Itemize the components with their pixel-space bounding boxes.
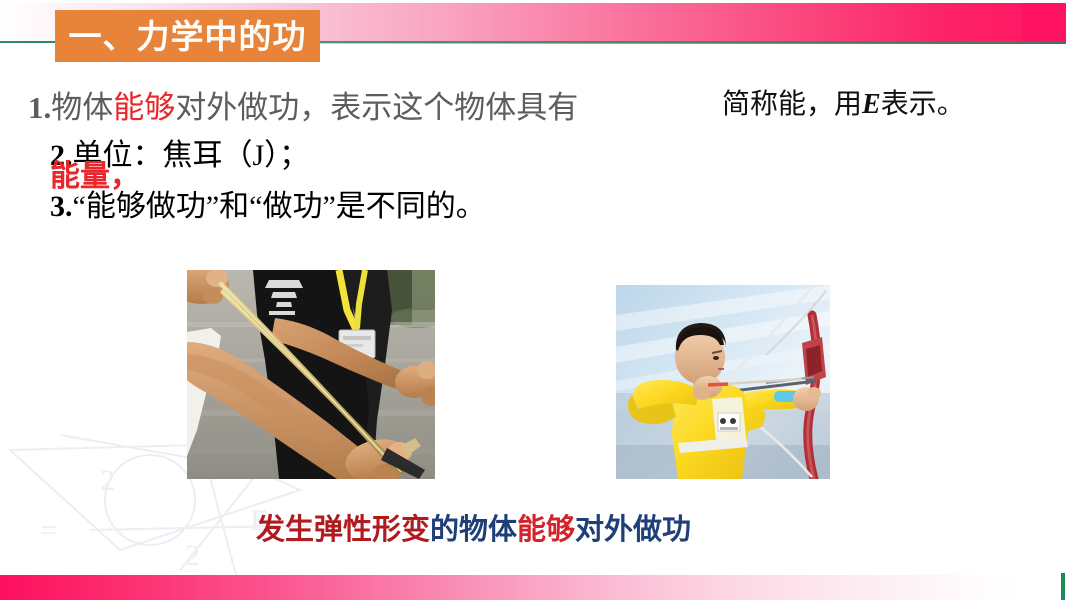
top-right-pink-cap: [1022, 3, 1066, 42]
note-right-symbol: E: [862, 89, 881, 120]
svg-text:2: 2: [185, 539, 200, 572]
note-right: 简称能，用E表示。: [722, 82, 965, 122]
page-title: 一、力学中的功: [69, 20, 307, 53]
svg-text:=: =: [40, 514, 57, 547]
photo-archer: [616, 285, 830, 479]
slide-canvas: 2 2 E = 一、力学中的功 1.物体能够对外做功，表示这个物体具有 2.单位…: [0, 0, 1066, 600]
body-line-1-part-b: 对外做功，表示这个物体具有: [175, 90, 578, 125]
figure-caption: 发生弹性形变的物体能够对外做功: [256, 506, 691, 548]
photo-slingshot: [187, 270, 435, 479]
note-right-prefix: 简称能，用: [722, 89, 862, 120]
caption-seg-3: 能够: [517, 514, 575, 546]
caption-seg-2: 的物体: [430, 514, 517, 546]
bottom-green-tick: [1061, 573, 1065, 600]
body-line-1-marker: 1.: [28, 90, 51, 125]
note-right-suffix: 表示。: [881, 89, 965, 120]
section-title-chip: 一、力学中的功: [55, 10, 320, 62]
body-line-1: 1.物体能够对外做功，表示这个物体具有: [28, 92, 578, 123]
body-line-3-marker: 3.: [50, 190, 73, 223]
body-line-3: 3.“能够做功”和“做功”是不同的。: [50, 192, 486, 222]
caption-seg-4: 对外做功: [575, 514, 691, 546]
bottom-decor-band: [0, 575, 1060, 600]
body-energy-word: 能量，: [50, 162, 140, 192]
body-line-3-text: “能够做功”和“做功”是不同的。: [73, 190, 486, 223]
body-line-1-highlight: 能够: [113, 90, 175, 125]
body-line-1-part-a: 物体: [51, 90, 113, 125]
svg-text:2: 2: [100, 464, 115, 497]
caption-seg-1: 发生弹性形变: [256, 514, 430, 546]
